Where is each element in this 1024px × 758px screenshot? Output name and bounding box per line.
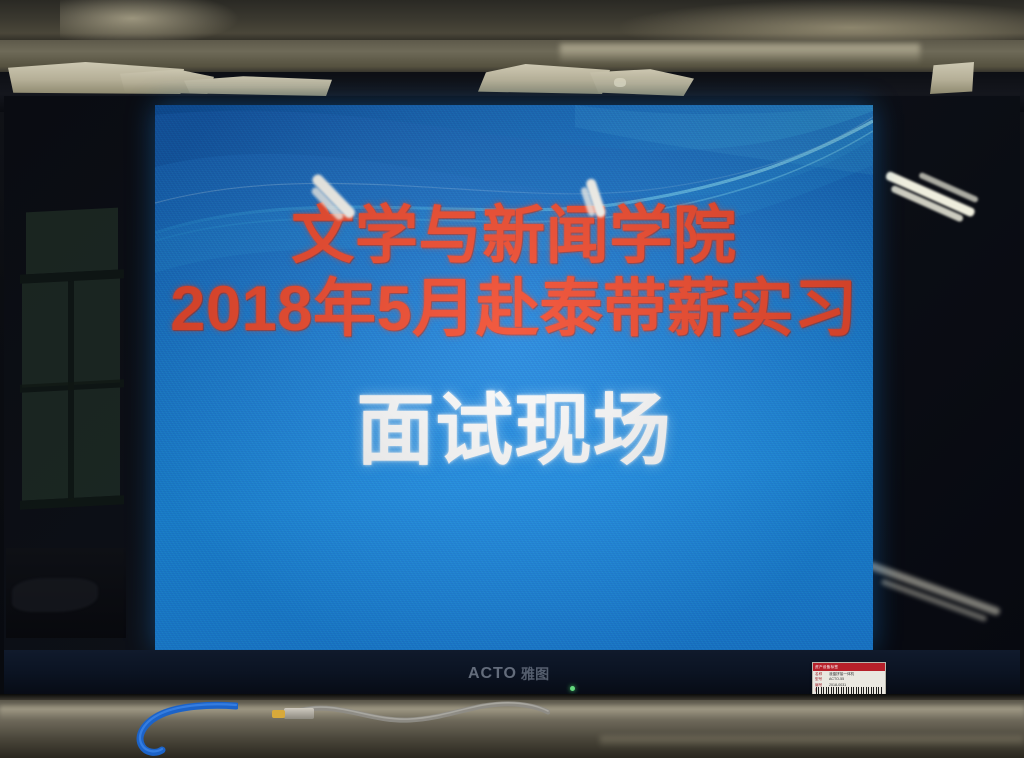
- classroom-photo-scene: 文学与新闻学院 2018年5月赴泰带薪实习 面试现场 ACTO 雅图 资产设备标…: [0, 0, 1024, 758]
- asset-label-sticker: 资产设备标签 名称 液晶拼接一体机 型号 ACTO-55 编号 2018-003…: [812, 662, 886, 698]
- tape-fragment: [614, 78, 626, 87]
- ceiling-trim-highlight: [560, 44, 920, 64]
- sticker-header-text: 资产设备标签: [815, 665, 838, 669]
- furniture-reflection: [12, 578, 98, 612]
- signal-cable: [300, 700, 550, 726]
- brand-name-chinese: 雅图: [521, 664, 550, 684]
- power-led-indicator: [570, 686, 575, 691]
- window-reflection: [20, 207, 124, 532]
- rj45-connector: [284, 708, 314, 719]
- network-cable: [118, 700, 238, 756]
- screen-vignette: [155, 105, 873, 650]
- tape-strip: [930, 62, 974, 94]
- sticker-header: 资产设备标签: [813, 663, 885, 671]
- brand-name-latin: ACTO: [468, 665, 517, 683]
- brand-logo: ACTO 雅图: [468, 664, 549, 684]
- shelf-highlight-lower: [600, 736, 1024, 748]
- display-screen[interactable]: 文学与新闻学院 2018年5月赴泰带薪实习 面试现场: [155, 105, 873, 650]
- cable-clip: [272, 710, 285, 718]
